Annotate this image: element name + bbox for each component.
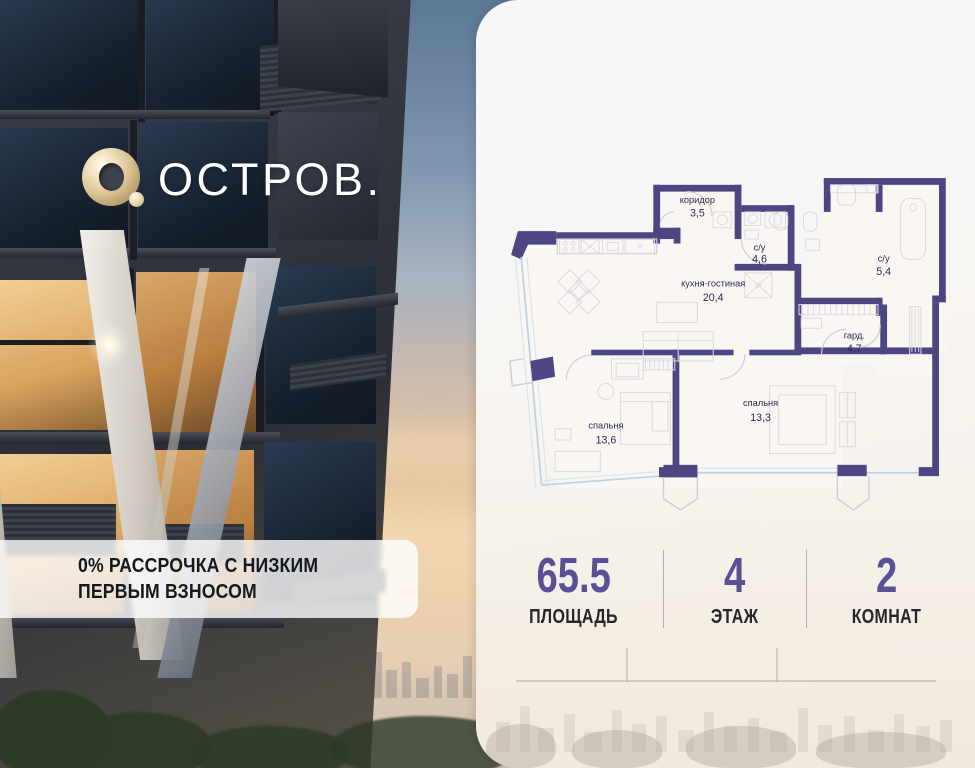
svg-text:4,7: 4,7 <box>847 343 862 355</box>
stat-value-floor: 4 <box>724 553 745 600</box>
background-tree <box>572 730 662 768</box>
stat-label-area: ПЛОЩАДЬ <box>529 607 618 627</box>
promo-text: 0% РАССРОЧКА С НИЗКИМ ПЕРВЫМ ВЗНОСОМ <box>78 553 318 605</box>
room-label-sanuzel-1: с/у 4,6 <box>752 242 767 265</box>
background-tree <box>816 732 946 768</box>
bridge-pylon <box>776 648 778 682</box>
advertisement-card: ОСТРОВ. 0% РАССРОЧКА С НИЗКИМ ПЕРВЫМ ВЗН… <box>0 0 975 768</box>
background-tree <box>486 724 556 768</box>
svg-text:коридор: коридор <box>680 195 715 205</box>
stat-value-rooms: 2 <box>876 553 897 600</box>
building-photo: ОСТРОВ. 0% РАССРОЧКА С НИЗКИМ ПЕРВЫМ ВЗН… <box>0 0 520 768</box>
svg-text:4,6: 4,6 <box>752 254 767 266</box>
floorplan-panel: .w { fill:#4e4583; } .rm { fill:#faf7f3;… <box>476 0 975 768</box>
brand-name: ОСТРОВ. <box>158 157 383 202</box>
svg-text:20,4: 20,4 <box>703 292 724 304</box>
stat-value-area: 65.5 <box>536 553 610 600</box>
background-bridge <box>516 680 936 682</box>
svg-text:кухня-гостиная: кухня-гостиная <box>681 278 745 288</box>
floor-plan: .w { fill:#4e4583; } .rm { fill:#faf7f3;… <box>484 160 974 510</box>
bridge-pylon <box>626 648 628 682</box>
stat-etazh: 4 ЭТАЖ <box>664 542 806 638</box>
svg-text:с/у: с/у <box>878 254 890 264</box>
sun-glint <box>96 332 122 358</box>
svg-text:5,4: 5,4 <box>876 266 891 278</box>
background-tree <box>686 726 796 768</box>
room-label-sanuzel-2: с/у 5,4 <box>876 254 891 279</box>
stat-ploshchad: 65.5 ПЛОЩАДЬ <box>485 542 663 638</box>
svg-text:с/у: с/у <box>754 242 766 252</box>
stat-label-floor: ЭТАЖ <box>711 607 758 627</box>
svg-text:спальня: спальня <box>743 398 778 408</box>
svg-text:13,6: 13,6 <box>596 434 617 446</box>
svg-text:гард.: гард. <box>844 330 865 340</box>
svg-text:3,5: 3,5 <box>690 207 705 219</box>
stat-label-rooms: КОМНАТ <box>852 607 922 627</box>
svg-text:спальня: спальня <box>588 421 623 431</box>
brand-logo: ОСТРОВ. <box>82 148 383 210</box>
promo-banner: 0% РАССРОЧКА С НИЗКИМ ПЕРВЫМ ВЗНОСОМ <box>0 540 418 618</box>
apartment-stats: 65.5 ПЛОЩАДЬ 4 ЭТАЖ 2 КОМНАТ <box>476 542 975 638</box>
building-facade <box>0 0 410 768</box>
donut-ring-icon <box>82 148 144 210</box>
svg-text:13,3: 13,3 <box>750 412 771 424</box>
stat-komnat: 2 КОМНАТ <box>807 542 967 638</box>
